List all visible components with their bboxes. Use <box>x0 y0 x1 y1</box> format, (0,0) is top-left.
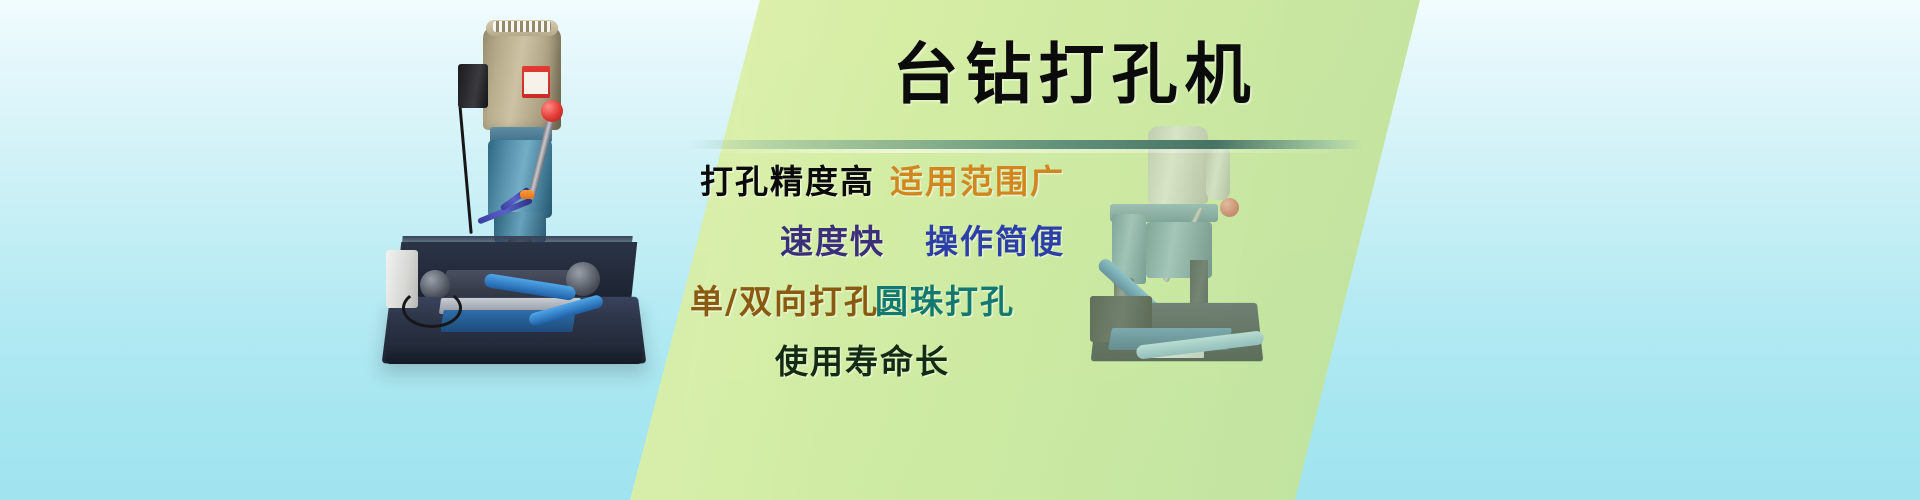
feature-precision: 打孔精度高 <box>700 155 875 203</box>
feature-speed: 速度快 <box>780 215 885 263</box>
feature-range: 适用范围广 <box>890 155 1065 203</box>
feature-bead-label: 圆珠打孔 <box>875 282 1015 321</box>
feature-lifetime-label: 使用寿命长 <box>775 342 950 381</box>
page-title: 台钻打孔机 <box>745 38 1405 112</box>
feature-speed-label: 速度快 <box>780 222 885 261</box>
feature-easy-label: 操作简便 <box>925 222 1065 261</box>
machine-power-cable <box>458 104 472 234</box>
feature-direction-label: 单/双向打孔 <box>690 282 879 321</box>
feature-direction: 单/双向打孔 <box>690 275 879 323</box>
machine-lever-knob <box>541 100 563 122</box>
feature-precision-label: 打孔精度高 <box>700 162 875 201</box>
banner-title-wrap: 台钻打孔机 <box>745 38 1405 112</box>
feature-lifetime: 使用寿命长 <box>775 335 950 383</box>
machine-junction-box <box>458 64 488 108</box>
feature-easy: 操作简便 <box>925 215 1065 263</box>
machine-coolant-nozzle <box>520 190 534 199</box>
machine-base-front <box>386 342 642 364</box>
machine-motor-vents <box>493 21 551 32</box>
machine-coiled-cord <box>402 288 462 328</box>
left-machine-photo <box>380 12 650 372</box>
feature-list: 打孔精度高 适用范围广 速度快 操作简便 单/双向打孔 圆珠打孔 使用寿命长 <box>660 135 1360 465</box>
machine-nameplate-inner <box>524 72 548 94</box>
feature-range-label: 适用范围广 <box>890 162 1065 201</box>
feature-bead: 圆珠打孔 <box>875 275 1015 323</box>
product-banner: 台钻打孔机 打孔精度高 适用范围广 速度快 操作简便 单/双向打孔 圆珠打孔 使… <box>0 0 1920 500</box>
